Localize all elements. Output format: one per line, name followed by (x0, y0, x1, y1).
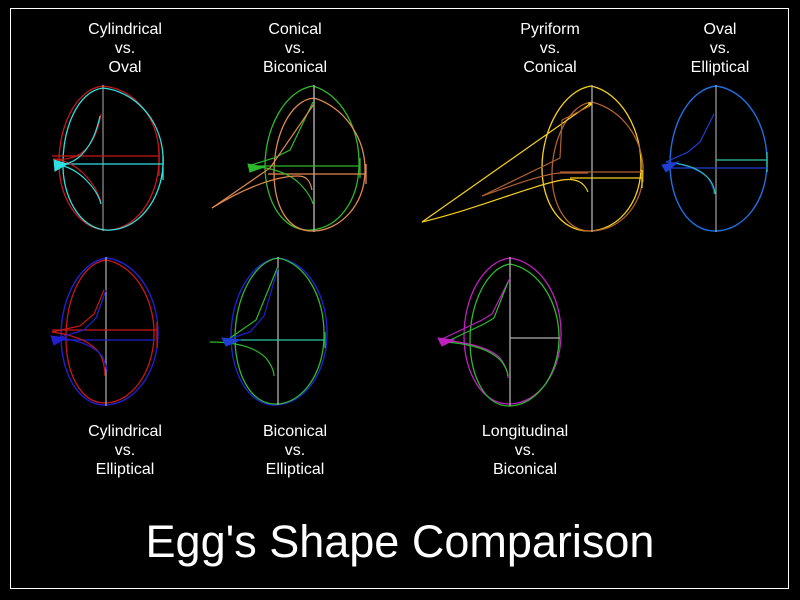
outline-biconical (235, 258, 324, 404)
panel-pyriform-vs-conical: Pyriform vs. Conical (420, 12, 650, 237)
panel-biconical-vs-elliptical: Biconical vs. Elliptical (210, 252, 380, 492)
outline-oval (670, 86, 767, 231)
panel-label-oval-vs-elliptical: Oval vs. Elliptical (650, 20, 790, 77)
panel-conical-vs-biconical: Conical vs. Biconical (210, 12, 380, 237)
outline-biconical (274, 98, 365, 231)
panel-label-conical-vs-biconical: Conical vs. Biconical (210, 20, 380, 77)
tangent-biconical (212, 104, 314, 208)
panel-label-longitudinal-vs-biconical: Longitudinal vs. Biconical (420, 422, 630, 479)
tangent-conical-lower (482, 173, 588, 196)
panel-label-pyriform-vs-conical: Pyriform vs. Conical (450, 20, 650, 77)
inner-profile-cylindrical-upper (52, 290, 104, 332)
inner-profile-biconical-lower (446, 342, 508, 376)
egg-diagram-conical-vs-biconical (210, 80, 380, 240)
egg-diagram-pyriform-vs-conical (420, 80, 650, 240)
panel-cylindrical-vs-elliptical: Cylindrical vs. Elliptical (40, 252, 210, 492)
tangent-conical-ridge (562, 106, 590, 120)
egg-diagram-cylindrical-vs-oval (40, 80, 210, 240)
inner-profile-biconical-lower (210, 342, 274, 376)
tangent-pyriform-upper (422, 104, 590, 222)
outline-biconical (470, 264, 559, 406)
egg-diagram-biconical-vs-elliptical (210, 252, 380, 412)
tangent-marker-conical (248, 164, 264, 172)
egg-shape-comparison-figure: Cylindrical vs. Oval (0, 0, 800, 600)
inner-profile-elliptical (226, 268, 278, 340)
apex-marker-pyriform (588, 102, 592, 106)
panel-oval-vs-elliptical: Oval vs. Elliptical (650, 12, 790, 237)
panel-label-cylindrical-vs-elliptical: Cylindrical vs. Elliptical (40, 422, 210, 479)
panel-label-cylindrical-vs-oval: Cylindrical vs. Oval (40, 20, 210, 77)
egg-diagram-longitudinal-vs-biconical (420, 252, 630, 412)
inner-profile-elliptical-upper (58, 290, 106, 338)
panel-longitudinal-vs-biconical: Longitudinal vs. Biconical (420, 252, 630, 492)
egg-diagram-cylindrical-vs-elliptical (40, 252, 210, 412)
panel-cylindrical-vs-oval: Cylindrical vs. Oval (40, 12, 210, 237)
outline-oval (63, 88, 163, 230)
panel-label-biconical-vs-elliptical: Biconical vs. Elliptical (210, 422, 380, 479)
egg-diagram-oval-vs-elliptical (650, 80, 790, 240)
main-title: Egg's Shape Comparison (0, 516, 800, 568)
